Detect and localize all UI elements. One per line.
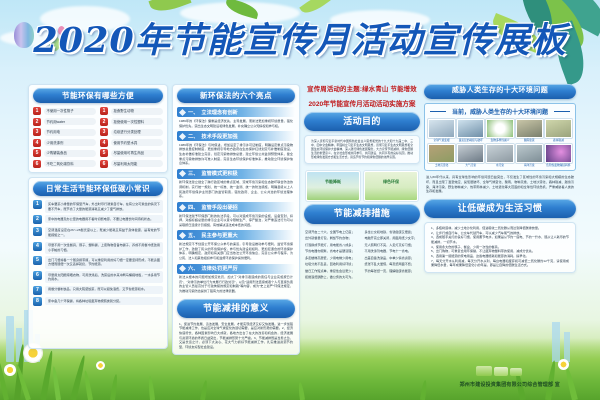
item-text: 家中的电器及办公室的电器用不着时切断电源，不要让电器长时间待机状态。 xyxy=(45,215,163,223)
subsection-header: 二、技术手段更加强 xyxy=(177,131,295,141)
measure-row: 灯泡换成节能灯，用电能省八成多；无人照明灯不亮，人走灯灭好习惯； xyxy=(305,243,419,247)
subsection-num: 三、 xyxy=(188,170,198,177)
panel-header-energy-ways: 节能环保有哪些方便 xyxy=(33,88,163,103)
problem-caption: 生物多样性减少 xyxy=(486,139,513,142)
list-item: 4少用洗涤剂 xyxy=(33,139,96,147)
measure-cell: 电脑开完立即关闭，用面用纸少文字； xyxy=(365,236,420,240)
subsection-body: 新环保法赋予环保部门新的执法手段，可以对造成环境污染的设施、设备查封、扣押，对超… xyxy=(177,214,295,228)
item-label: 拒绝使用一次性塑料 xyxy=(111,118,164,125)
subsection-body: 新法从根本的问题增加规定处罚，加大了"对排污者造成的责任与企业实施按日计罚"、"… xyxy=(177,275,295,294)
measure-cell: 多走楼梯高层低，少用电梯少用电； xyxy=(305,256,360,260)
left-column: 节能环保有哪些方便 1不使用一次性筷子 2节约用water 3节约用电 4少用洗… xyxy=(28,84,168,353)
item-number: 4 xyxy=(100,139,108,147)
item-number: 6 xyxy=(33,271,42,280)
measure-cell: 出外就餐量打包，剩饭节约食物； xyxy=(305,236,360,240)
panel-header-measures: 节能减排措施 xyxy=(304,204,420,223)
problem-thumbnail xyxy=(516,144,543,163)
measure-cell: 拒绝浪费酬酢上，做公务的大可为。 xyxy=(305,275,360,279)
item-text: 尽量用太阳能晾晒衣物，可用洗涤后、洗菜后的水来冲刷马桶拖地板，一水多用节约用水。 xyxy=(45,271,163,283)
poster-image-label: 节能降耗 xyxy=(307,179,359,185)
list-item: 1买车要买小排量的环保型汽车，外出时尽行骑乘自行车，在有公交可乘坐的情况下要不开… xyxy=(33,200,163,212)
problem-cell: 森林锐减 xyxy=(545,119,572,142)
subsection-num: 二、 xyxy=(188,133,198,140)
purpose-body: 为深入贯彻习近平新时代中国特色社会主义思想和党的十九大和十九届二中、三中、四中全… xyxy=(309,139,415,159)
item-number: 5 xyxy=(100,149,108,157)
problem-cell: 全球气候变暖 xyxy=(428,119,455,142)
problem-thumbnail xyxy=(428,144,455,163)
list-item: 8家中备几个环保袋，将各种垃圾废弃物按照类别分装。 xyxy=(33,297,163,306)
ten-problems-intro: 进入80年代以来，具有全球性影响的环境问题日益突出，不仅发生了区域性的环境污染和… xyxy=(424,175,576,194)
significance-body: 1、促进节约发展、清洁发展、安全发展，才能实现经济又好又快发展。进一步加强节能减… xyxy=(177,322,295,350)
item-number: 5 xyxy=(33,256,42,265)
footer-art-chip xyxy=(510,368,522,376)
list-item: 2家中的电器及办公室的电器用不着时切断电源，不要让电器长时间待机状态。 xyxy=(33,215,163,224)
list-item: 6尽量用太阳能晾晒衣物，可用洗涤后、洗菜后的水来冲刷马桶拖地板，一水多用节约用水… xyxy=(33,271,163,283)
list-item: 4尽量不用一次性餐具、筷子、塑料袋，上街购物自备布袋子，养成不用餐巾纸改用小手帕… xyxy=(33,242,163,254)
item-label: 拒食野生动物 xyxy=(111,108,164,115)
measure-cell: 无人照明灯不亮，人走灯灭好习惯； xyxy=(365,243,420,247)
diamond-bullet-icon xyxy=(179,232,186,239)
measure-row: 节省电器勿频繁，省电才是硬道理；不用洗涤剂电器，节电十一省电。 xyxy=(305,249,419,253)
problem-thumbnail xyxy=(486,119,513,138)
item-number: 6 xyxy=(100,160,108,168)
item-number: 4 xyxy=(33,242,42,251)
list-item: 2拒绝使用一次性塑料 xyxy=(100,118,163,126)
item-number: 1 xyxy=(100,107,108,115)
item-text: 买车要买小排量的环保型汽车，外出时尽行骑乘自行车，在有公交可乘坐的情况下要不开车… xyxy=(45,200,163,212)
city-silhouette xyxy=(6,316,14,362)
subsection-title: 监管手段出硬招 xyxy=(201,204,237,211)
subsection-header: 一、立法理念有创新 xyxy=(177,107,295,117)
subsection-header: 六、法律处罚更严厉 xyxy=(177,264,295,274)
measure-row: 空调开启二十六，全国节电上亿度；多坐公交和地铁，省钱健康又便捷； xyxy=(305,230,419,234)
item-text: 尽量不用一次性餐具、筷子、塑料袋，上街购物自备布袋子，养成不用餐巾纸改用小手帕的… xyxy=(45,242,163,254)
problem-cell: 危险性废物越境转移 xyxy=(545,144,572,167)
footer-art-chip xyxy=(476,366,492,376)
item-number: 7 xyxy=(33,286,42,295)
diamond-bullet-icon xyxy=(179,170,186,177)
plan-title: 2020年节能宣传月活动活动实施方案 xyxy=(304,98,420,108)
ten-problems-title: 当前，威胁人类生存的十大环境问题 xyxy=(428,107,572,116)
measure-cell: 纸张不乱大爱惜，每页纸两面不费； xyxy=(365,262,420,266)
footer-art-decor xyxy=(476,366,522,376)
problem-thumbnail xyxy=(545,119,572,138)
item-label: 不吃二氧化碳饮料 xyxy=(44,160,97,167)
measure-cell: 不用洗涤剂电器，节电十一省电。 xyxy=(365,249,420,253)
problem-thumbnail xyxy=(428,119,455,138)
ten-problems-grid: 全球气候变暖 臭氧层的耗损与破坏 生物多样性减少 酸雨蔓延 森林锐减 土地荒漠化… xyxy=(428,119,572,167)
panel-daily-low-carbon-tips: 日常生活节能环保低碳小常识 1买车要买小排量的环保型汽车，外出时尽行骑乘自行车，… xyxy=(28,177,168,349)
subsection-title: 立法理念有创新 xyxy=(201,109,237,116)
city-silhouette xyxy=(564,332,570,362)
ten-problems-box: 当前，威胁人类生存的十大环境问题 全球气候变暖 臭氧层的耗损与破坏 生物多样性减… xyxy=(424,103,576,171)
subsection-title: 民主参与更重大 xyxy=(201,232,237,239)
panel-header-purpose: 活动目的 xyxy=(304,112,420,131)
list-item: 4使用节约型水具 xyxy=(100,139,163,147)
problem-thumbnail xyxy=(486,144,513,163)
list-item: 7用餐分餐制食品，只用大碗装饭菜，既可以避免浪费，又节省能源和水。 xyxy=(33,286,163,295)
problem-cell: 土地荒漠化 xyxy=(428,144,455,167)
item-label: 垃圾进行分类处理 xyxy=(111,129,164,136)
list-item: 5少购罐装食品 xyxy=(33,149,96,157)
problem-caption: 臭氧层的耗损与破坏 xyxy=(457,139,484,142)
problem-cell: 臭氧层的耗损与破坏 xyxy=(457,119,484,142)
numbered-two-column-list: 1不使用一次性筷子 2节约用water 3节约用电 4少用洗涤剂 5少购罐装食品… xyxy=(33,107,163,168)
measure-cell: 节约每张纸一页，理解健康省能源； xyxy=(365,269,420,273)
poster-image-label: 绿色环保 xyxy=(365,179,417,185)
subsection-header: 五、民主参与更重大 xyxy=(177,230,295,240)
campaign-theme: 宣传周活动的主题:绿水青山 节能增效 xyxy=(304,84,420,93)
footer-credit: 郑州市建设投资集团有限公司综合管理部 宣 xyxy=(460,381,560,388)
subsection-title: 监管模式更积极 xyxy=(201,170,237,177)
panel-header-significance: 节能减排的意义 xyxy=(177,299,295,318)
panel-purpose: 为深入贯彻习近平新时代中国特色社会主义思想和党的十九大和十九届二中、三中、四中全… xyxy=(304,135,420,164)
middle-column: 新环保法的六个亮点 一、立法理念有创新 1989年的《环保法》偏重是经济优先，主… xyxy=(172,84,300,359)
item-text: 家中备几个环保袋，将各种垃圾废弃物按照类别分装。 xyxy=(45,297,163,305)
item-number: 5 xyxy=(33,149,41,157)
measure-row: 垃圾分类不乱丢，回收利用好环境；纸张不乱大爱惜，每页纸两面不费； xyxy=(305,262,419,266)
item-text: 用餐分餐制食品，只用大碗装饭菜，既可以避免浪费，又节省能源和水。 xyxy=(45,286,163,294)
problem-caption: 海洋污染 xyxy=(516,164,543,167)
panel-header-daily-tips: 日常生活节能环保低碳小常识 xyxy=(33,181,163,196)
measure-cell: 节省电器勿频繁，省电才是硬道理； xyxy=(305,249,360,253)
measure-cell xyxy=(365,275,420,279)
center-right-column: 宣传周活动的主题:绿水青山 节能增效 2020年节能宣传月活动活动实施方案 活动… xyxy=(304,84,420,280)
item-number: 2 xyxy=(33,118,41,126)
poster-title-wrap: 2020年节能宣传月活动宣传展板 xyxy=(0,12,600,63)
problem-cell: 水污染 xyxy=(486,144,513,167)
measure-row: 出外就餐量打包，剩饭节约食物；电脑开完立即关闭，用面用纸少文字； xyxy=(305,236,419,240)
flower-decor xyxy=(96,361,105,370)
problem-cell: 酸雨蔓延 xyxy=(516,119,543,142)
measure-cell: 做日工作短点单，重复性会议更少； xyxy=(305,269,360,273)
subsection-body: 新环保法建立健全了跨行政区域的重点区域、流域环境污染和生态破坏联合防治协调机制，… xyxy=(177,180,295,199)
panel-header-six-highlights: 新环保法的六个亮点 xyxy=(177,88,295,103)
problem-caption: 酸雨蔓延 xyxy=(516,139,543,142)
item-label: 节约用电 xyxy=(44,129,97,136)
list-item: 6不吃二氧化碳饮料 xyxy=(33,160,96,168)
problem-caption: 森林锐减 xyxy=(545,139,572,142)
item-number: 2 xyxy=(100,118,108,126)
item-number: 1 xyxy=(33,200,42,209)
item-label: 不使用一次性筷子 xyxy=(44,108,97,115)
item-number: 4 xyxy=(33,139,41,147)
item-number: 3 xyxy=(33,128,41,136)
item-number: 8 xyxy=(33,297,42,306)
subsection-header: 三、监管模式更积极 xyxy=(177,169,295,179)
item-number: 3 xyxy=(100,128,108,136)
list-item: 1不使用一次性筷子 xyxy=(33,107,96,115)
habit-item: 7、每天分开水从利用减，每天分开水从利，每台电器和废弃和可减低二氧化碳约12千克… xyxy=(429,259,571,268)
list-item: 5尽量使用可再生商品 xyxy=(100,149,163,157)
item-text: 空调温度设定在26～28摄氏度以上，既减少能耗又有益于身体健康，是有效的节能措施… xyxy=(45,227,163,239)
panel-habits: 1、多植树造林，减少土地沙化利用，促进吸收二氧化碳从而达到降低碳排放量。 2、让… xyxy=(424,222,576,273)
problem-cell: 生物多样性减少 xyxy=(486,119,513,142)
right-column: 威胁人类生存的十大环境问题 当前，威胁人类生存的十大环境问题 全球气候变暖 臭氧… xyxy=(424,84,576,277)
list-item: 1拒食野生动物 xyxy=(100,107,163,115)
habit-item: 3、选成随手关灯的良好习惯，使用蓄节电水，如果是从节约一度电、节约一升水、随从让… xyxy=(429,235,571,244)
measure-cell: 灯泡换成节能灯，用电能省八成多； xyxy=(305,243,360,247)
subsection-body: 新法规定不予创造公开环保公众参与的渠道，引导建设推动参与便利，监管环境保护工作，… xyxy=(177,242,295,261)
item-label: 尽量使用可再生商品 xyxy=(111,150,164,157)
diamond-bullet-icon xyxy=(179,109,186,116)
numbered-list-left: 1不使用一次性筷子 2节约用water 3节约用电 4少用洗涤剂 5少购罐装食品… xyxy=(33,107,96,168)
problem-cell: 海洋污染 xyxy=(516,144,543,167)
problem-caption: 危险性废物越境转移 xyxy=(545,164,572,167)
measure-row: 多走楼梯高层低，少用电梯少用电；出差自备洗漱品，中单少情省资源； xyxy=(305,256,419,260)
item-number: 3 xyxy=(33,227,42,236)
panel-energy-saving-ways: 节能环保有哪些方便 1不使用一次性筷子 2节约用water 3节约用电 4少用洗… xyxy=(28,84,168,173)
measure-cell: 多坐公交和地铁，省钱健康又便捷； xyxy=(365,230,420,234)
item-text: 出门习惯将各一个随身携带瓶，可以重复利用的好习惯一定要坚持形成，不能贪图方便而随… xyxy=(45,256,163,268)
flower-decor xyxy=(558,359,569,370)
panel-header-ten-problems: 威胁人类生存的十大环境问题 xyxy=(424,84,576,99)
subsection-body: 1989年的《环保法》偏重是经济优先，主导发展，而新法更加重视环境质量，强化保护… xyxy=(177,119,295,128)
subsection-num: 一、 xyxy=(188,109,198,116)
poster-images: 节能降耗 绿色环保 xyxy=(304,168,420,204)
problem-caption: 水污染 xyxy=(486,164,513,167)
item-label: 少购罐装食品 xyxy=(44,150,97,157)
problem-thumbnail xyxy=(516,119,543,138)
city-silhouette xyxy=(552,322,560,362)
subsection-title: 法律处罚更严厉 xyxy=(201,265,237,272)
poster-image: 节能降耗 xyxy=(306,171,360,201)
diamond-bullet-icon xyxy=(179,133,186,140)
diamond-bullet-icon xyxy=(179,203,186,210)
measure-cell: 垃圾分类不乱丢，回收利用好环境； xyxy=(305,262,360,266)
problem-thumbnail xyxy=(545,144,572,163)
problem-thumbnail xyxy=(457,119,484,138)
footer-art-chip xyxy=(494,367,508,376)
subsection-num: 五、 xyxy=(188,232,198,239)
measures-list: 空调开启二十六，全国节电上亿度；多坐公交和地铁，省钱健康又便捷； 出外就餐量打包… xyxy=(304,228,420,280)
problem-caption: 大气污染 xyxy=(457,164,484,167)
list-item: 3垃圾进行分类处理 xyxy=(100,128,163,136)
item-number: 6 xyxy=(33,160,41,168)
list-item: 3空调温度设定在26～28摄氏度以上，既减少能耗又有益于身体健康，是有效的节能措… xyxy=(33,227,163,239)
subsection-num: 四、 xyxy=(188,204,198,211)
subsection-num: 六、 xyxy=(188,265,198,272)
problem-thumbnail xyxy=(457,144,484,163)
subsection-header: 四、监管手段出硬招 xyxy=(177,202,295,212)
item-label: 尽量利用太阳能 xyxy=(111,160,164,167)
problem-cell: 大气污染 xyxy=(457,144,484,167)
poster-board: 2020年节能宣传月活动宣传展板 节能环保有哪些方便 1不使用一次性筷子 2节约… xyxy=(0,0,600,400)
item-number: 2 xyxy=(33,215,42,224)
item-number: 1 xyxy=(33,107,41,115)
list-item: 3节约用电 xyxy=(33,128,96,136)
flower-decor xyxy=(4,364,16,376)
problem-caption: 全球气候变暖 xyxy=(428,139,455,142)
measure-cell: 出差自备洗漱品，中单少情省资源； xyxy=(365,256,420,260)
numbered-list-right: 1拒食野生动物 2拒绝使用一次性塑料 3垃圾进行分类处理 4使用节约型水具 5尽… xyxy=(100,107,163,168)
diamond-bullet-icon xyxy=(179,265,186,272)
poster-image: 绿色环保 xyxy=(364,171,418,201)
problem-caption: 土地荒漠化 xyxy=(428,164,455,167)
item-label: 使用节约型水具 xyxy=(111,139,164,146)
list-item: 5出门习惯将各一个随身携带瓶，可以重复利用的好习惯一定要坚持形成，不能贪图方便而… xyxy=(33,256,163,268)
subsection-body: 1989年的《环保法》与时俱进，增加设定了排污许可证制度，明确设定重点污染物排放… xyxy=(177,143,295,166)
measure-cell: 空调开启二十六，全国节电上亿度； xyxy=(305,230,360,234)
poster-title: 2020年节能宣传月活动宣传展板 xyxy=(33,12,566,63)
list-item: 2节约用water xyxy=(33,118,96,126)
measure-row: 做日工作短点单，重复性会议更少；节约每张纸一页，理解健康省能源； xyxy=(305,269,419,273)
subsection-title: 技术手段更加强 xyxy=(201,133,237,140)
list-item: 6尽量利用太阳能 xyxy=(100,160,163,168)
item-label: 节约用water xyxy=(44,118,97,125)
panel-six-highlights: 新环保法的六个亮点 一、立法理念有创新 1989年的《环保法》偏重是经济优先，主… xyxy=(172,84,300,355)
measure-row: 拒绝浪费酬酢上，做公务的大可为。 xyxy=(305,275,419,279)
panel-header-low-carbon-habit: 让低碳成为生活习惯 xyxy=(424,199,576,218)
item-label: 少用洗涤剂 xyxy=(44,139,97,146)
